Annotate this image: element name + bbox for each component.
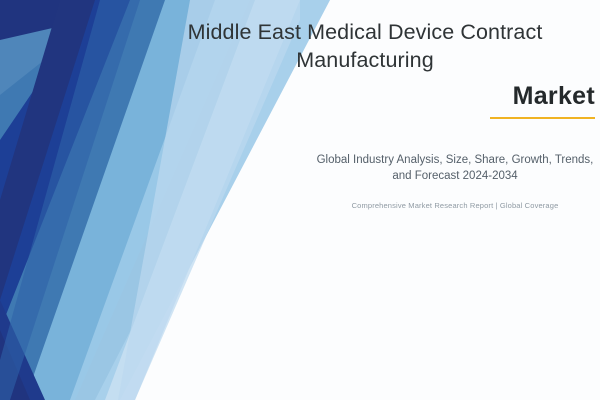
report-title: Middle East Medical Device Contract Manu… <box>140 18 590 74</box>
market-heading: Market <box>513 82 595 116</box>
market-heading-wrap: Market <box>320 82 595 119</box>
report-cover: Middle East Medical Device Contract Manu… <box>0 0 600 400</box>
cover-text-block: Middle East Medical Device Contract Manu… <box>300 0 600 400</box>
accent-underline <box>490 117 595 119</box>
report-tagline: Comprehensive Market Research Report | G… <box>315 200 595 211</box>
report-subtitle: Global Industry Analysis, Size, Share, G… <box>315 152 595 184</box>
